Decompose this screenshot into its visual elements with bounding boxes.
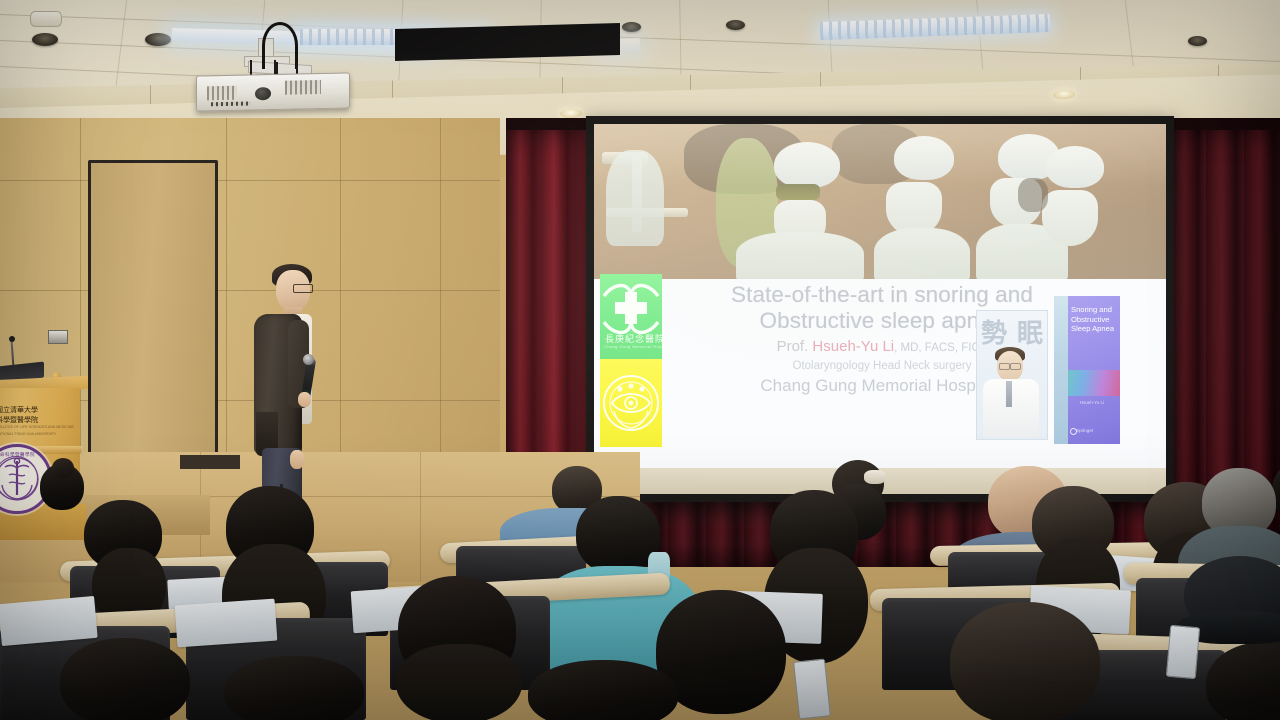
hair-clip-icon <box>864 470 886 484</box>
ceiling-projector <box>196 72 350 111</box>
lecture-hall-scene: 長庚紀念醫院 Chang Gung Memorial Hospital <box>0 0 1280 720</box>
lectern-text-cn-2: 科學暨醫學院 <box>0 416 38 425</box>
chinese-book-char-2: 眠 <box>1017 313 1043 350</box>
ceiling-downlight <box>622 22 641 32</box>
chinese-book-char-1: 勢 <box>981 313 1007 350</box>
presenter-hand-upper <box>298 392 311 407</box>
slide-speaker-credentials: , MD, FACS, FICS <box>894 342 987 354</box>
lectern-text-en-1: COLLEGE OF LIFE SCIENCES AND MEDICINE <box>0 425 74 430</box>
recessed-spotlight <box>1053 90 1075 100</box>
chang-gung-logo-en: Chang Gung Memorial Hospital <box>604 344 671 349</box>
slide-title-line1: State-of-the-art in snoring and <box>682 282 1082 308</box>
audience-head <box>60 638 190 720</box>
audience-hair-bun <box>52 458 74 478</box>
ceiling-downlight <box>32 33 58 46</box>
smartphone[interactable] <box>1166 625 1200 679</box>
podium-microphone-icon <box>9 336 15 342</box>
ceiling-downlight <box>726 20 745 30</box>
recessed-spotlight <box>560 109 582 119</box>
english-book-title: Snoring and Obstructive Sleep Apnea <box>1071 305 1117 334</box>
slide-banner-photo <box>594 124 1166 279</box>
slide-content: 長庚紀念醫院 Chang Gung Memorial Hospital <box>594 124 1166 468</box>
ceiling-downlight <box>145 33 171 46</box>
slide-speaker-prefix: Prof. <box>777 338 813 355</box>
english-book-cover: Snoring and Obstructive Sleep Apnea Hsue… <box>1054 296 1120 444</box>
lectern-text-en-2: NATIONAL TSING HUA UNIVERSITY <box>0 432 56 437</box>
door[interactable] <box>88 160 218 502</box>
microphone-head-icon <box>303 354 314 365</box>
audience <box>0 460 1280 720</box>
seat-writing-tray[interactable] <box>175 599 278 648</box>
english-book-authors: Hsueh-Yu Li <box>1080 400 1104 406</box>
card-reader[interactable] <box>48 330 68 344</box>
lectern-text-cn-1: 國立清華大學 <box>0 406 38 415</box>
smartphone[interactable] <box>793 658 831 719</box>
university-seal-logo <box>600 359 662 447</box>
audience-head <box>224 656 364 720</box>
book-portrait-tie <box>1006 381 1012 407</box>
smoke-detector-icon <box>30 11 62 27</box>
fluorescent-light <box>820 14 1050 40</box>
chinese-book-cover: 勢 眠 <box>976 310 1048 440</box>
audience-ponytail <box>396 644 522 720</box>
presenter-glasses-icon <box>293 284 313 293</box>
seat-writing-tray[interactable] <box>0 596 98 646</box>
ceiling-downlight <box>1188 36 1207 46</box>
ceiling-recess <box>395 23 620 61</box>
slide-speaker-name: Hsueh-Yu Li <box>812 338 894 355</box>
english-book-publisher: Springer <box>1076 428 1093 433</box>
audience-head <box>528 660 678 720</box>
audience-head <box>950 602 1100 720</box>
chang-gung-logo: 長庚紀念醫院 Chang Gung Memorial Hospital <box>600 274 662 359</box>
projector-lens <box>255 87 271 100</box>
lectern-seal-text: 生命科學暨醫學院 <box>0 452 35 458</box>
projection-screen: 長庚紀念醫院 Chang Gung Memorial Hospital <box>586 116 1174 502</box>
